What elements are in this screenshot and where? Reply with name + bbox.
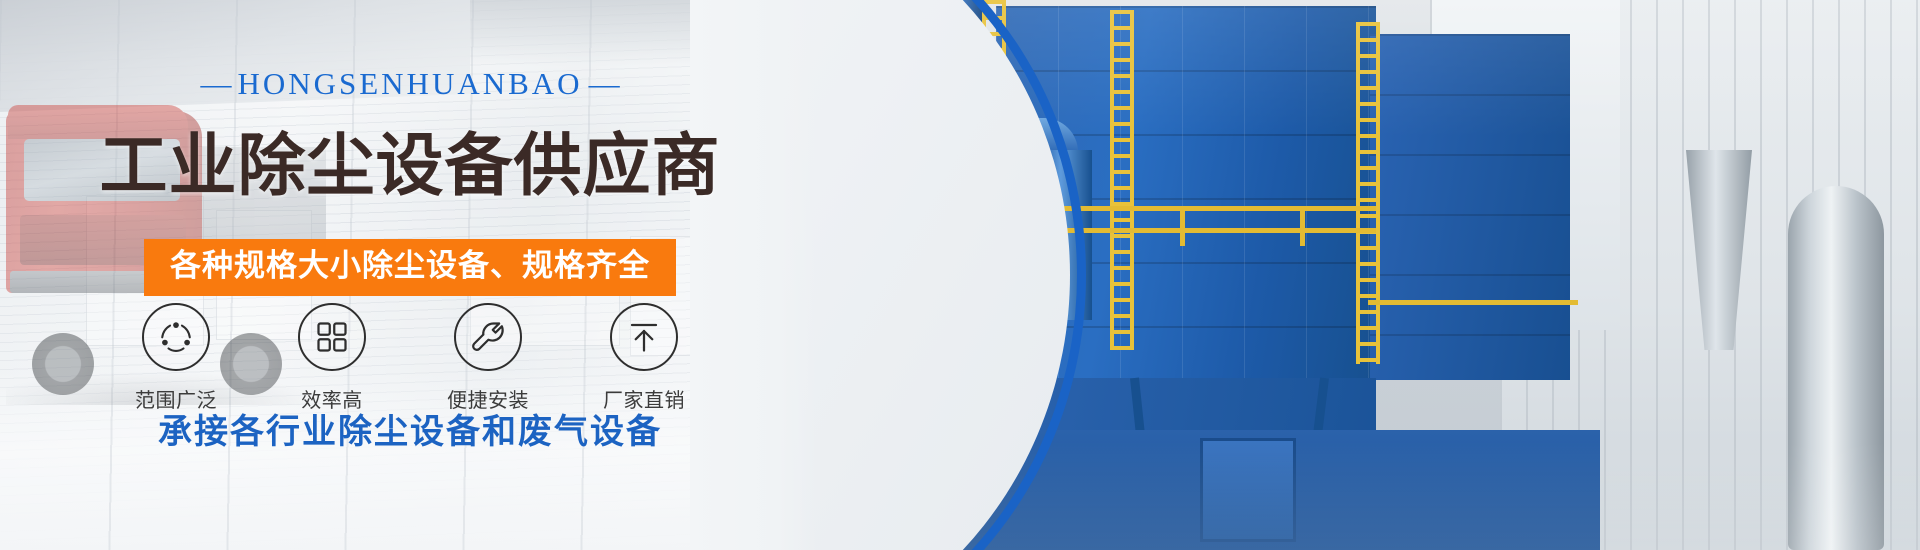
wrench-tool-icon xyxy=(454,303,522,371)
grid-four-squares-icon xyxy=(298,303,366,371)
feature-item-factory-direct[interactable]: 厂家直销 xyxy=(589,303,699,413)
upload-arrow-icon xyxy=(610,303,678,371)
tagline: 承接各行业除尘设备和废气设备 xyxy=(0,404,820,453)
feature-list: 范围广泛 效率高 xyxy=(0,303,820,413)
eyebrow-line: —HONGSENHUANBAO— xyxy=(0,66,820,102)
feature-item-easy-install[interactable]: 便捷安装 xyxy=(433,303,543,413)
eyebrow-text: HONGSENHUANBAO xyxy=(237,66,582,101)
highlight-ribbon: 各种规格大小除尘设备、规格齐全 xyxy=(144,239,676,296)
hero-banner: —HONGSENHUANBAO— 工业除尘设备供应商 各种规格大小除尘设备、规格… xyxy=(0,0,1920,550)
eyebrow-dash-right: — xyxy=(583,66,626,101)
feature-item-high-efficiency[interactable]: 效率高 xyxy=(277,303,387,413)
share-nodes-icon xyxy=(142,303,210,371)
feature-item-wide-range[interactable]: 范围广泛 xyxy=(121,303,231,413)
page-title: 工业除尘设备供应商 xyxy=(0,110,820,209)
eyebrow-dash-left: — xyxy=(194,66,237,101)
banner-content: —HONGSENHUANBAO— 工业除尘设备供应商 各种规格大小除尘设备、规格… xyxy=(0,0,820,550)
